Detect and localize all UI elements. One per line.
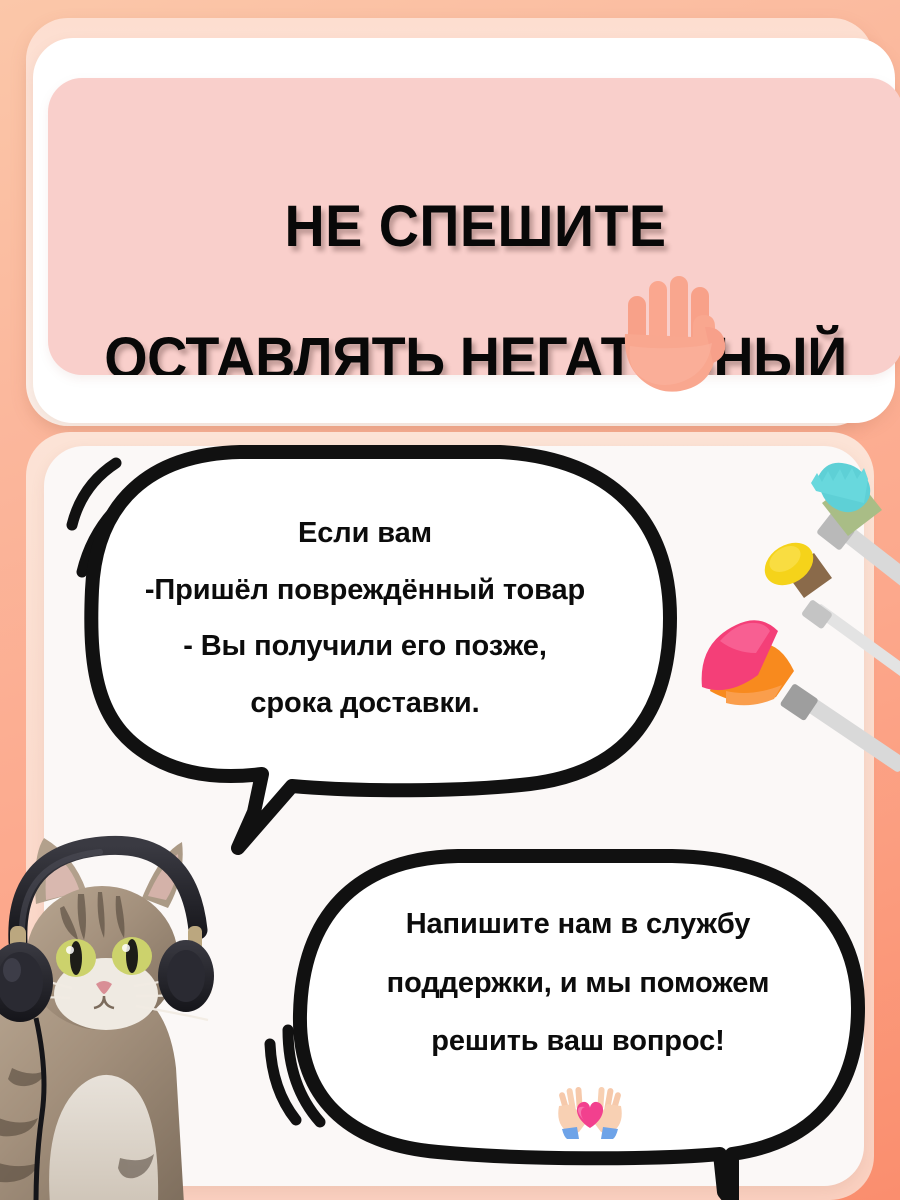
page-title: НЕ СПЕШИТЕ ОСТАВЛЯТЬ НЕГАТИВНЫЙ ОТЗЫВ [65,128,886,375]
headline-line-1: НЕ СПЕШИТЕ [65,194,886,260]
bubble-bottom-line-1: Напишите нам в службу [288,895,868,954]
bubble-top-line-4: срока доставки. [55,675,675,732]
bubble-top-text: Если вам -Пришёл повреждённый товар - Вы… [55,505,675,731]
bubble-bottom-line-2: поддержки, и мы поможем [288,954,868,1013]
poster-root: НЕ СПЕШИТЕ ОСТАВЛЯТЬ НЕГАТИВНЫЙ ОТЗЫВ [0,0,900,1200]
header-pink-panel: НЕ СПЕШИТЕ ОСТАВЛЯТЬ НЕГАТИВНЫЙ ОТЗЫВ [48,78,900,375]
bubble-bottom-text: Напишите нам в службу поддержки, и мы по… [288,895,868,1071]
bubble-top-line-2: -Пришёл повреждённый товар [55,562,675,619]
bubble-bottom-line-3: решить ваш вопрос! [288,1012,868,1071]
bubble-top-line-1: Если вам [55,505,675,562]
headline-line-2: ОСТАВЛЯТЬ НЕГАТИВНЫЙ [65,326,886,375]
bubble-top-line-3: - Вы получили его позже, [55,618,675,675]
